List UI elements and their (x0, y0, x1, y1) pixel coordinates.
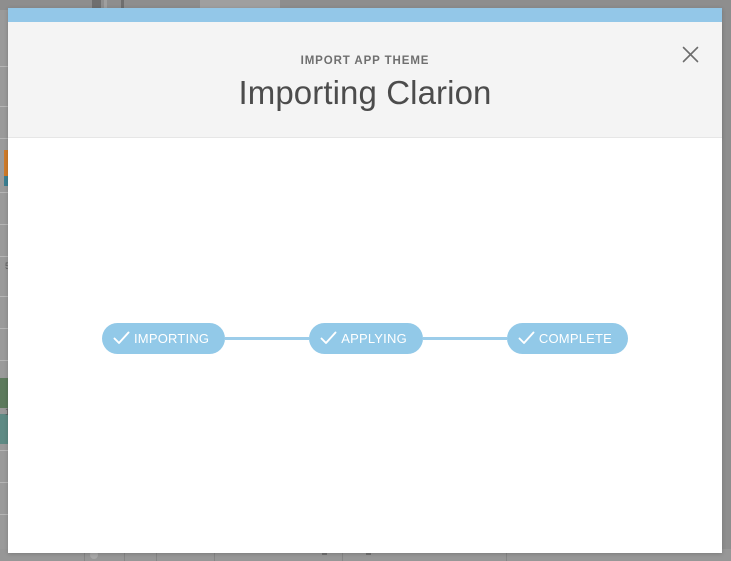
stepper-step-label: APPLYING (341, 331, 407, 346)
modal-body: IMPORTING APPLYING (8, 138, 722, 553)
stepper-step-importing: IMPORTING (102, 323, 225, 354)
modal-accent-bar (8, 8, 722, 22)
import-progress-stepper: IMPORTING APPLYING (8, 323, 722, 354)
close-button[interactable] (677, 41, 703, 67)
stepper-step-applying: APPLYING (309, 323, 423, 354)
check-icon (112, 329, 131, 348)
stepper-step-label: COMPLETE (539, 331, 612, 346)
stepper-step-label: IMPORTING (134, 331, 209, 346)
modal-header: IMPORT APP THEME Importing Clarion (8, 22, 722, 138)
stepper-connector (225, 337, 309, 340)
check-icon (319, 329, 338, 348)
page-title: Importing Clarion (8, 74, 722, 112)
modal-eyebrow-label: IMPORT APP THEME (8, 22, 722, 67)
stepper-connector (423, 337, 507, 340)
close-icon (682, 46, 699, 63)
check-icon (517, 329, 536, 348)
import-app-theme-modal: IMPORT APP THEME Importing Clarion IMPOR… (8, 8, 722, 553)
stepper-step-complete: COMPLETE (507, 323, 628, 354)
